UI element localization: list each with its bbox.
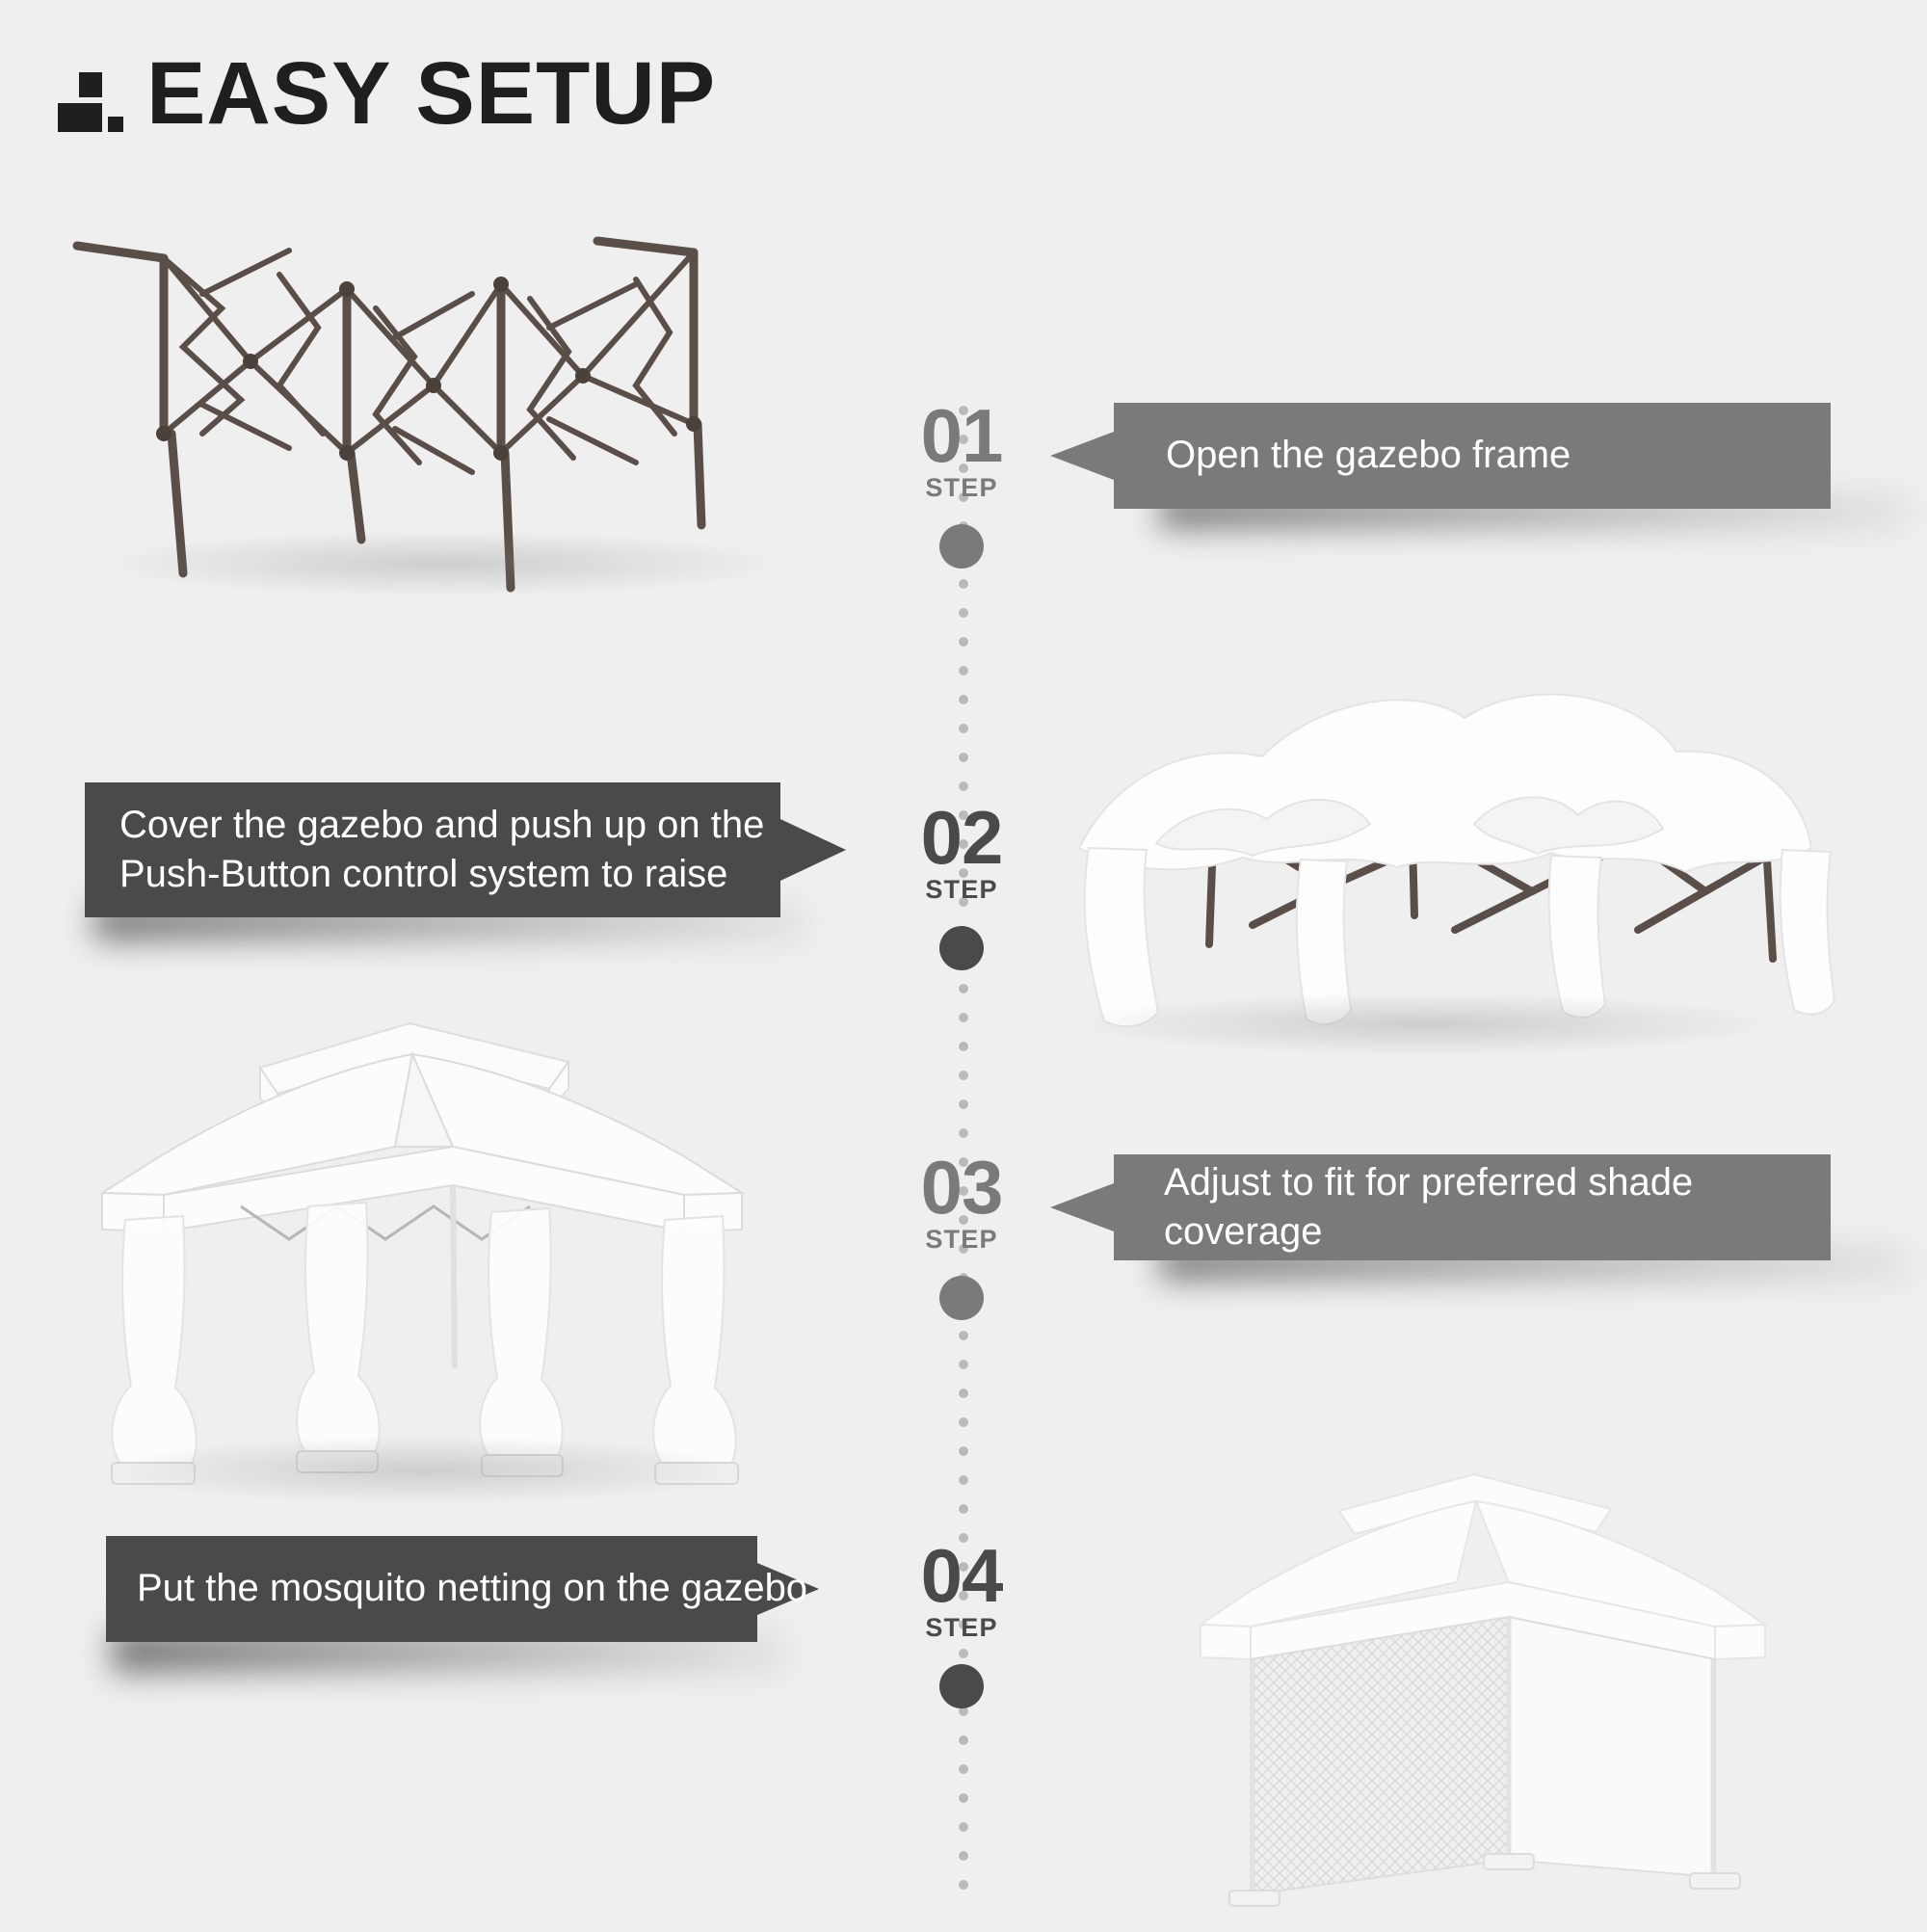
step-dot [939,1664,984,1708]
callout-text: Open the gazebo frame [1166,431,1571,480]
callout-text: Cover the gazebo and push up on the Push… [119,801,764,899]
step-number: 03 [880,1151,1043,1223]
step-dot [939,524,984,569]
photo-step-3 [67,954,780,1513]
callout-text: Put the mosquito netting on the gazebo [137,1564,807,1613]
page-title: EASY SETUP [146,56,716,132]
callout-text: Adjust to fit for preferred shade covera… [1164,1158,1831,1257]
step-number: 01 [880,400,1043,471]
page-header: EASY SETUP [58,56,716,132]
callout-step-1: Open the gazebo frame [1050,403,1831,509]
step-marker-4: 04 STEP [880,1540,1043,1708]
bar-blocks-icon [58,59,119,132]
step-marker-1: 01 STEP [880,400,1043,569]
photo-step-1 [58,193,867,597]
step-marker-3: 03 STEP [880,1151,1043,1320]
gazebo-assembled-illustration [67,954,780,1513]
step-dot [939,926,984,970]
step-word-label: STEP [880,1225,1043,1255]
gazebo-netting-illustration [1118,1445,1831,1927]
step-marker-2: 02 STEP [880,802,1043,970]
step-word-label: STEP [880,875,1043,905]
callout-step-2: Cover the gazebo and push up on the Push… [85,782,846,917]
callout-step-3: Adjust to fit for preferred shade covera… [1050,1154,1831,1260]
photo-step-4 [1118,1445,1831,1927]
step-number: 02 [880,802,1043,873]
infographic-page: EASY SETUP [0,0,1927,1927]
callout-step-4: Put the mosquito netting on the gazebo [106,1536,819,1642]
step-word-label: STEP [880,473,1043,503]
step-word-label: STEP [880,1613,1043,1643]
photo-step-2 [1012,626,1850,1060]
step-number: 04 [880,1540,1043,1611]
step-dot [939,1276,984,1320]
